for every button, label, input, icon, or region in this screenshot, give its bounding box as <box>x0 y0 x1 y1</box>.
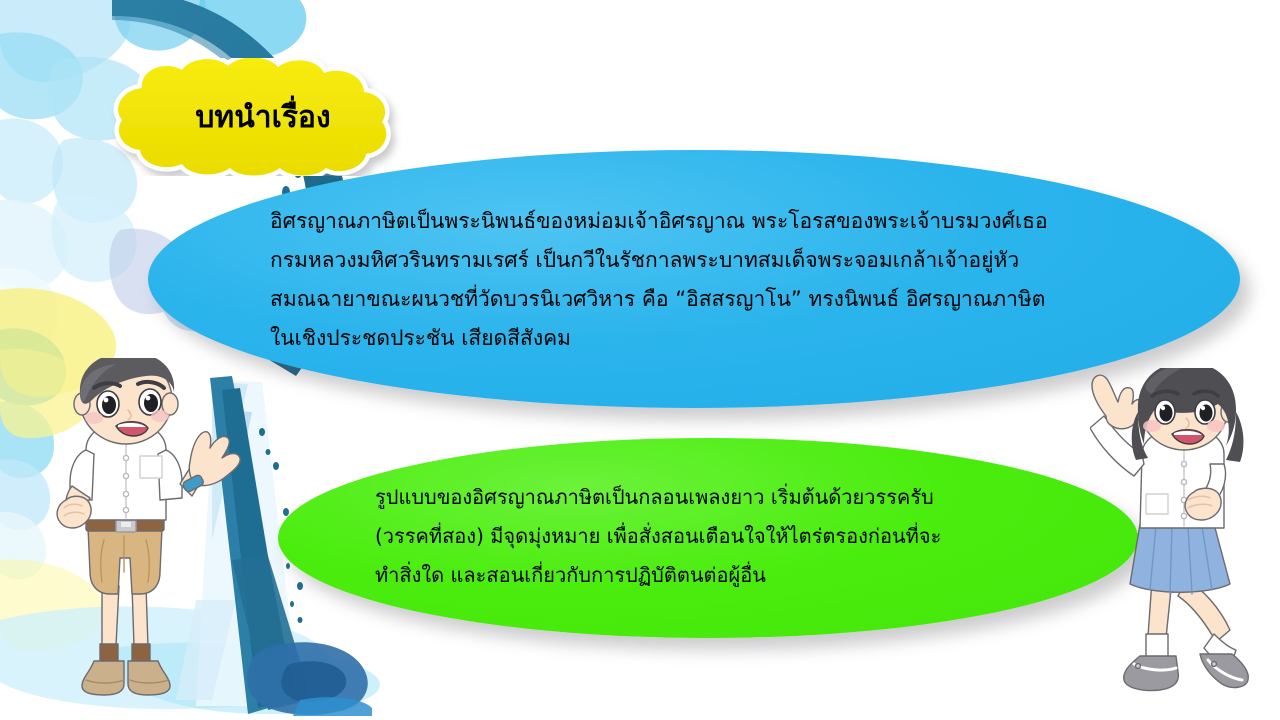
green-oval-line-2: (วรรคที่สอง) มีจุดมุ่งหมาย เพื่อสั่งสอนเ… <box>375 517 941 556</box>
cartoon-girl-student <box>1090 368 1280 713</box>
green-oval-text-block: รูปแบบของอิศรญาณภาษิตเป็นกลอนเพลงยาว เริ… <box>375 478 941 595</box>
blue-oval-line-2: กรมหลวงมหิศวรินทรามเรศร์ เป็นกวีในรัชกาล… <box>270 241 1048 280</box>
blue-oval-line-1: อิศรญาณภาษิตเป็นพระนิพนธ์ของหม่อมเจ้าอิศ… <box>270 202 1048 241</box>
cartoon-boy-student <box>20 358 245 703</box>
blue-oval-line-4: ในเชิงประชดประชัน เสียดสีสังคม <box>270 319 1048 358</box>
slide-canvas: บทนำเรื่อง อิศรญาณภาษิตเป็นพระนิพนธ์ของห… <box>0 0 1280 720</box>
blue-oval-line-3: สมณฉายาขณะผนวชที่วัดบวรนิเวศวิหาร คือ “อ… <box>270 280 1048 319</box>
green-oval-line-3: ทำสิ่งใด และสอนเกี่ยวกับการปฏิบัติตนต่อผ… <box>375 556 941 595</box>
page-title: บทนำเรื่อง <box>90 58 410 176</box>
green-oval-line-1: รูปแบบของอิศรญาณภาษิตเป็นกลอนเพลงยาว เริ… <box>375 478 941 517</box>
title-cloud-callout: บทนำเรื่อง <box>90 58 410 176</box>
blue-oval-text-block: อิศรญาณภาษิตเป็นพระนิพนธ์ของหม่อมเจ้าอิศ… <box>270 202 1048 358</box>
